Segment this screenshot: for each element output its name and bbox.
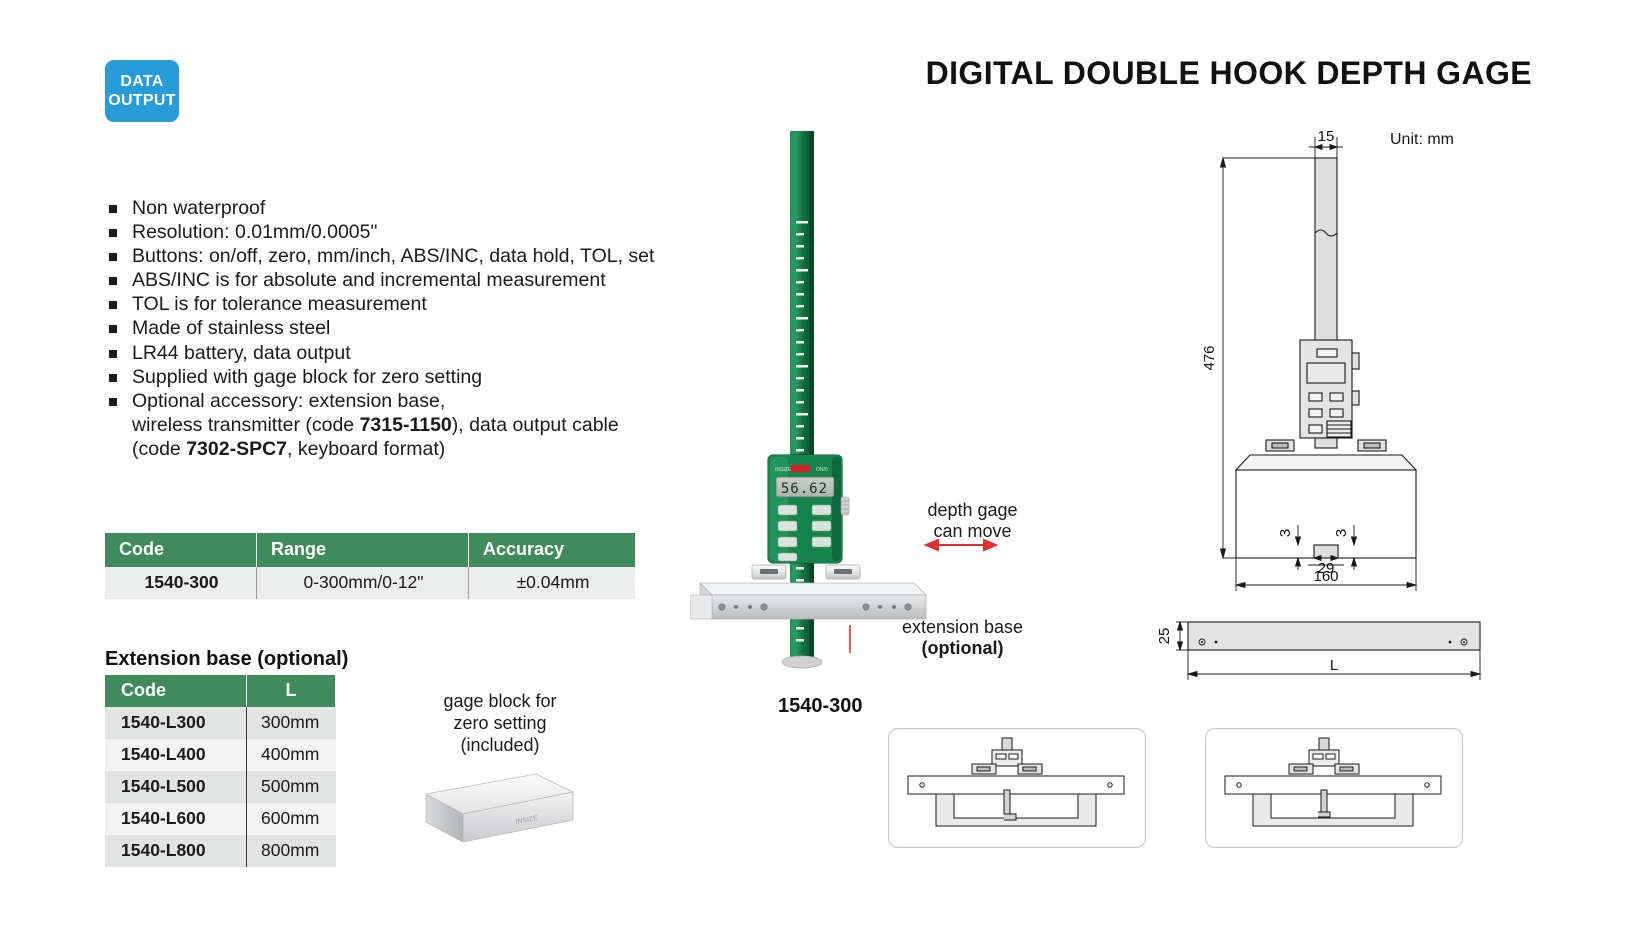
list-item: Non waterproof [105, 197, 745, 221]
feature-text: Non waterproof [132, 197, 265, 219]
cell-accuracy: ±0.04mm [469, 567, 636, 599]
table-row: 1540-L600 600mm [105, 803, 336, 835]
square-bullet-icon [109, 350, 117, 358]
annotation-extension-base: extension base (optional) [890, 617, 1035, 659]
square-bullet-icon [109, 253, 117, 261]
dimension-160: 160 [1313, 568, 1338, 585]
cell-code: 1540-L600 [105, 803, 247, 835]
list-item-continuation: (code 7302-SPC7, keyboard format) [105, 438, 745, 462]
specification-table: Code Range Accuracy 1540-300 0-300mm/0-1… [105, 533, 635, 599]
feature-text: Buttons: on/off, zero, mm/inch, ABS/INC,… [132, 245, 654, 267]
cell-length: 500mm [247, 771, 336, 803]
cell-code: 1540-L500 [105, 771, 247, 803]
column-header-length: L [247, 675, 336, 707]
product-code-label: 1540-300 [778, 695, 863, 718]
badge-line-2: OUTPUT [108, 91, 176, 110]
list-item-continuation: wireless transmitter (code 7315-1150), d… [105, 414, 745, 438]
column-header-accuracy: Accuracy [469, 533, 636, 567]
datasheet-page: DATA OUTPUT DIGITAL DOUBLE HOOK DEPTH GA… [0, 0, 1637, 934]
technical-drawing-extension-base: 25 L [1150, 608, 1490, 688]
caption-line-1: gage block for [420, 690, 580, 712]
square-bullet-icon [109, 277, 117, 285]
table-header-row: Code Range Accuracy [105, 533, 635, 567]
list-item: Made of stainless steel [105, 317, 745, 341]
gage-block-caption: gage block for zero setting (included) [420, 690, 580, 756]
table-row: 1540-300 0-300mm/0-12" ±0.04mm [105, 567, 635, 599]
cell-length: 800mm [247, 835, 336, 867]
caption-line-3: (included) [420, 734, 580, 756]
feature-list: Non waterproof Resolution: 0.01mm/0.0005… [105, 197, 745, 462]
feature-text: (code 7302-SPC7, keyboard format) [132, 438, 445, 460]
feature-text: ABS/INC is for absolute and incremental … [132, 269, 606, 291]
square-bullet-icon [109, 398, 117, 406]
list-item: Resolution: 0.01mm/0.0005" [105, 221, 745, 245]
feature-text: Supplied with gage block for zero settin… [132, 366, 482, 388]
cell-range: 0-300mm/0-12" [257, 567, 469, 599]
table-row: 1540-L300 300mm [105, 707, 336, 739]
application-detail-drawing-1 [888, 728, 1146, 848]
table-row: 1540-L400 400mm [105, 739, 336, 771]
cell-length: 400mm [247, 739, 336, 771]
dimension-476: 476 [1201, 345, 1218, 370]
cell-code: 1540-L800 [105, 835, 247, 867]
dimension-25: 25 [1156, 628, 1173, 645]
data-output-badge: DATA OUTPUT [105, 60, 179, 122]
square-bullet-icon [109, 325, 117, 333]
extension-base-title: Extension base (optional) [105, 648, 348, 671]
annotation-line-1: depth gage [905, 500, 1040, 521]
list-item: ABS/INC is for absolute and incremental … [105, 269, 745, 293]
dimension-L: L [1330, 657, 1338, 674]
column-header-range: Range [257, 533, 469, 567]
extension-base-table: Code L 1540-L300 300mm 1540-L400 400mm 1… [105, 675, 336, 867]
feature-text: LR44 battery, data output [132, 342, 351, 364]
cell-code: 1540-L400 [105, 739, 247, 771]
column-header-code: Code [105, 675, 247, 707]
feature-text: Resolution: 0.01mm/0.0005" [132, 221, 377, 243]
product-photo: INSIZE ON/0 56.62 [690, 125, 1050, 685]
svg-text:56.62: 56.62 [781, 481, 828, 497]
annotation-line-2: (optional) [890, 638, 1035, 659]
list-item: LR44 battery, data output [105, 342, 745, 366]
feature-text: Made of stainless steel [132, 317, 330, 339]
dimension-15: 15 [1318, 128, 1335, 145]
square-bullet-icon [109, 301, 117, 309]
list-item: Buttons: on/off, zero, mm/inch, ABS/INC,… [105, 245, 745, 269]
svg-text:ON/0: ON/0 [816, 467, 828, 473]
list-item: TOL is for tolerance measurement [105, 293, 745, 317]
square-bullet-icon [109, 205, 117, 213]
caption-line-2: zero setting [420, 712, 580, 734]
table-header-row: Code L [105, 675, 336, 707]
square-bullet-icon [109, 374, 117, 382]
dimension-3-right: 3 [1333, 529, 1350, 537]
gage-block-photo: INSIZE [418, 762, 578, 852]
table-row: 1540-L500 500mm [105, 771, 336, 803]
cell-code: 1540-300 [105, 567, 257, 599]
dimension-3-left: 3 [1277, 529, 1294, 537]
annotation-depth-gage-can-move: depth gage can move [905, 500, 1040, 542]
cell-code: 1540-L300 [105, 707, 247, 739]
list-item: Supplied with gage block for zero settin… [105, 366, 745, 390]
page-title: DIGITAL DOUBLE HOOK DEPTH GAGE [926, 55, 1532, 92]
table-row: 1540-L800 800mm [105, 835, 336, 867]
square-bullet-icon [109, 229, 117, 237]
feature-text: wireless transmitter (code 7315-1150), d… [132, 414, 619, 436]
application-detail-drawing-2 [1205, 728, 1463, 848]
feature-text: Optional accessory: extension base, [132, 390, 445, 412]
list-item: Optional accessory: extension base, [105, 390, 745, 414]
cell-length: 300mm [247, 707, 336, 739]
badge-line-1: DATA [120, 72, 163, 91]
technical-drawing-front-view: 15 476 3 3 [1190, 125, 1490, 605]
feature-text: TOL is for tolerance measurement [132, 293, 427, 315]
annotation-line-2: can move [905, 521, 1040, 542]
svg-text:INSIZE: INSIZE [775, 467, 792, 473]
annotation-line-1: extension base [890, 617, 1035, 638]
cell-length: 600mm [247, 803, 336, 835]
column-header-code: Code [105, 533, 257, 567]
